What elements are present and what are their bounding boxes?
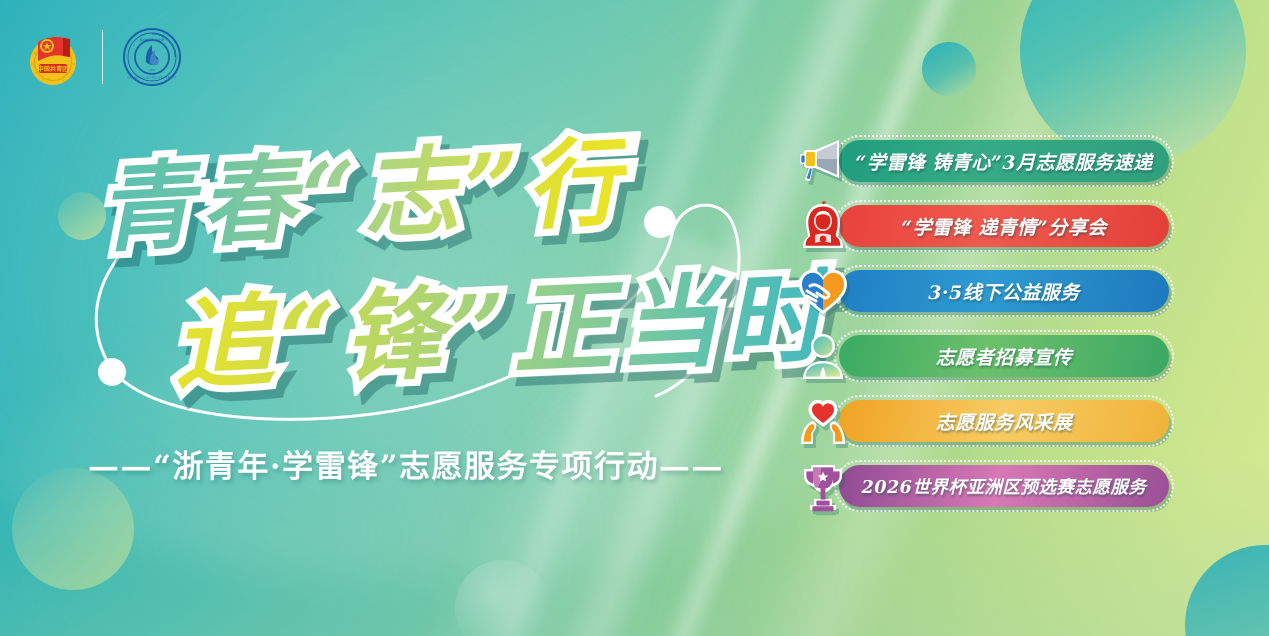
activity-label: “学雷锋 递青情”分享会 — [901, 213, 1106, 240]
activity-label: 志愿者招募宣传 — [936, 343, 1073, 370]
activity-label: 2026世界杯亚洲区预选赛志愿服务 — [862, 474, 1147, 499]
activity-pill[interactable]: 志愿者招募宣传 — [839, 335, 1169, 377]
decorative-circle-small — [922, 42, 976, 96]
list-item[interactable]: 志愿者招募宣传 — [795, 329, 1195, 391]
zhejiang-dianzi-university-seal: 杭州电子科技大学 HANGZHOU DIANZI UNIVERSITY 1956 — [121, 26, 183, 88]
activity-list: “学雷锋 铸青心”3月志愿服务速递 “学雷锋 递青情”分享会 — [795, 134, 1195, 524]
svg-text:杭州电子科技大学: 杭州电子科技大学 — [140, 37, 165, 42]
lei-feng-figure-icon — [795, 199, 851, 255]
list-item[interactable]: “学雷锋 铸青心”3月志愿服务速递 — [795, 134, 1195, 196]
activity-label: 志愿服务风采展 — [936, 408, 1073, 435]
decorative-circle-bottom-left — [12, 468, 134, 590]
subtitle: ——“浙青年·学雷锋”志愿服务专项行动—— — [88, 441, 724, 486]
activity-pill[interactable]: “学雷锋 递青情”分享会 — [839, 205, 1169, 247]
activity-pill[interactable]: 3·5线下公益服务 — [839, 270, 1169, 312]
trophy-icon — [795, 459, 851, 515]
heart-hands-icon — [795, 264, 851, 320]
activity-label: 3·5线下公益服务 — [928, 278, 1080, 305]
list-item[interactable]: “学雷锋 递青情”分享会 — [795, 199, 1195, 261]
decorative-circle-faint — [455, 560, 551, 636]
activity-label: “学雷锋 铸青心”3月志愿服务速递 — [855, 148, 1152, 175]
communist-youth-league-emblem: 中国共青团 — [22, 26, 84, 88]
title-line-1-fill: 青春“志”行 — [94, 104, 631, 271]
title-line-2-fill: 追“锋”正当时 — [170, 235, 833, 409]
svg-text:1956: 1956 — [149, 69, 156, 72]
list-item[interactable]: 志愿服务风采展 — [795, 394, 1195, 456]
heart-in-hands-icon — [795, 394, 851, 450]
list-item[interactable]: 2026世界杯亚洲区预选赛志愿服务 — [795, 459, 1195, 521]
logo-bar: 中国共青团 杭州电子科技大学 HANGZHOU DIANZI UNIVERSIT… — [22, 26, 183, 88]
activity-pill[interactable]: 2026世界杯亚洲区预选赛志愿服务 — [839, 465, 1169, 507]
main-title: 青春“志”行 青春“志”行 追“锋”正当时 追“锋”正当时 — [72, 122, 772, 452]
decorative-circle-bottom-right — [1185, 545, 1269, 636]
poster-canvas: 中国共青团 杭州电子科技大学 HANGZHOU DIANZI UNIVERSIT… — [0, 0, 1269, 636]
svg-text:中国共青团: 中国共青团 — [38, 65, 69, 73]
logo-divider — [102, 30, 103, 84]
volunteer-person-icon — [795, 329, 851, 385]
megaphone-icon — [795, 134, 851, 190]
activity-pill[interactable]: 志愿服务风采展 — [839, 400, 1169, 442]
list-item[interactable]: 3·5线下公益服务 — [795, 264, 1195, 326]
svg-text:HANGZHOU DIANZI UNIVERSITY: HANGZHOU DIANZI UNIVERSITY — [127, 76, 176, 80]
activity-pill[interactable]: “学雷锋 铸青心”3月志愿服务速递 — [839, 140, 1169, 182]
